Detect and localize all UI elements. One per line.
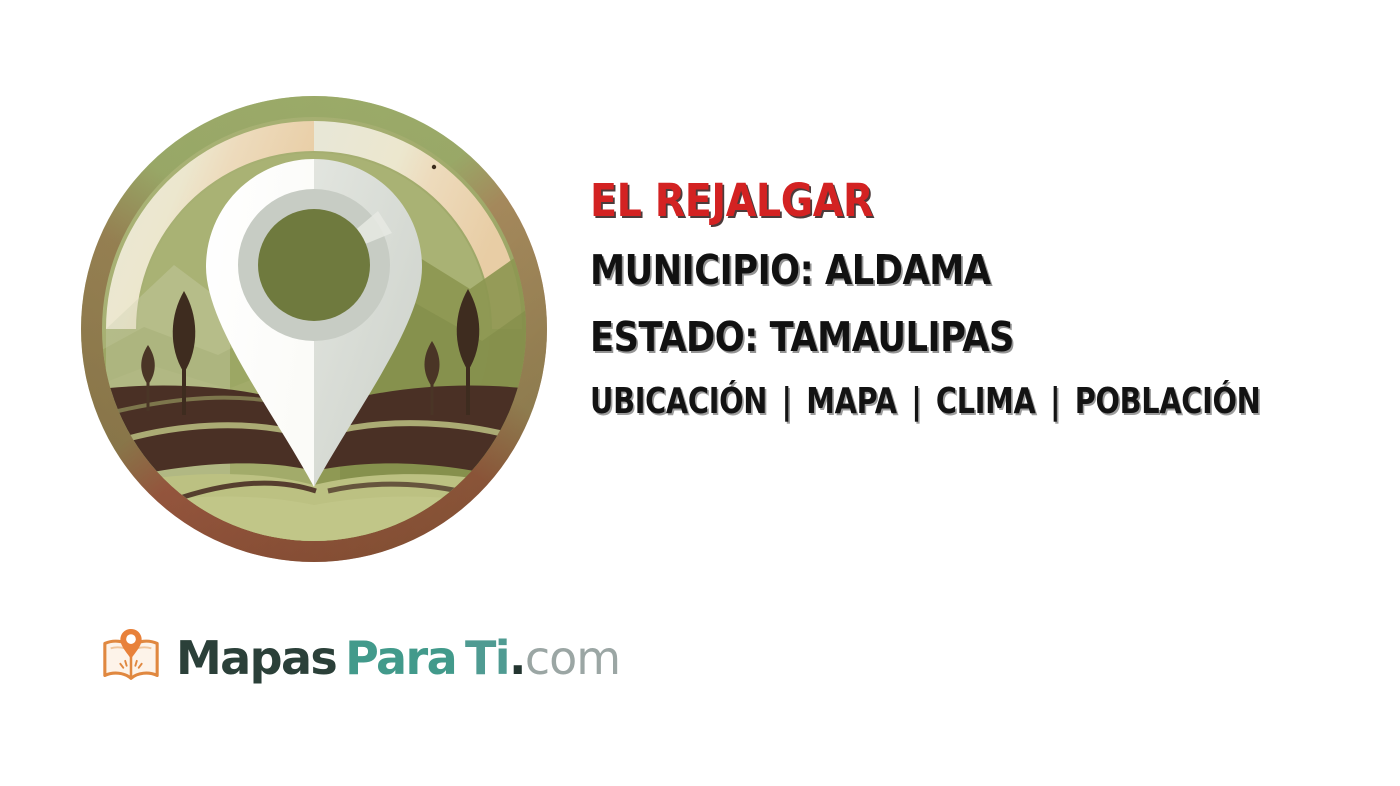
nav-separator-3: | [1050, 381, 1060, 422]
estado-line: ESTADO: TAMAULIPAS [590, 317, 1278, 358]
nav-item-poblacion[interactable]: POBLACIÓN [1075, 381, 1261, 422]
brandmark-wordmark: Mapas Para Ti . com [176, 635, 620, 681]
nav-item-clima[interactable]: CLIMA [936, 381, 1036, 422]
page-root: Mapas Para Ti . com EL REJALGAR MUNICIPI… [0, 0, 1400, 786]
location-landscape-emblem [78, 93, 550, 565]
nav-item-ubicacion[interactable]: UBICACIÓN [590, 381, 767, 422]
nav-separator-1: | [782, 381, 792, 422]
nav-item-mapa[interactable]: MAPA [806, 381, 896, 422]
brandmark[interactable]: Mapas Para Ti . com [100, 616, 620, 700]
open-book-pin-icon [100, 627, 162, 689]
section-nav: UBICACIÓN | MAPA | CLIMA | POBLACIÓN [590, 384, 1230, 420]
municipio-line: MUNICIPIO: ALDAMA [590, 250, 1278, 291]
info-block: EL REJALGAR MUNICIPIO: ALDAMA ESTADO: TA… [590, 178, 1390, 420]
nav-separator-2: | [911, 381, 921, 422]
emblem-speck [432, 165, 436, 169]
brandmark-com: com [525, 635, 620, 681]
brandmark-para: Para [345, 635, 456, 681]
brandmark-ti: Ti [465, 635, 509, 681]
emblem-pin-hole [258, 209, 370, 321]
emblem-column: Mapas Para Ti . com [0, 0, 580, 786]
brandmark-dot: . [509, 635, 525, 681]
brandmark-mapas: Mapas [176, 635, 336, 681]
page-title: EL REJALGAR [590, 178, 1294, 223]
emblem-scene [78, 93, 550, 565]
